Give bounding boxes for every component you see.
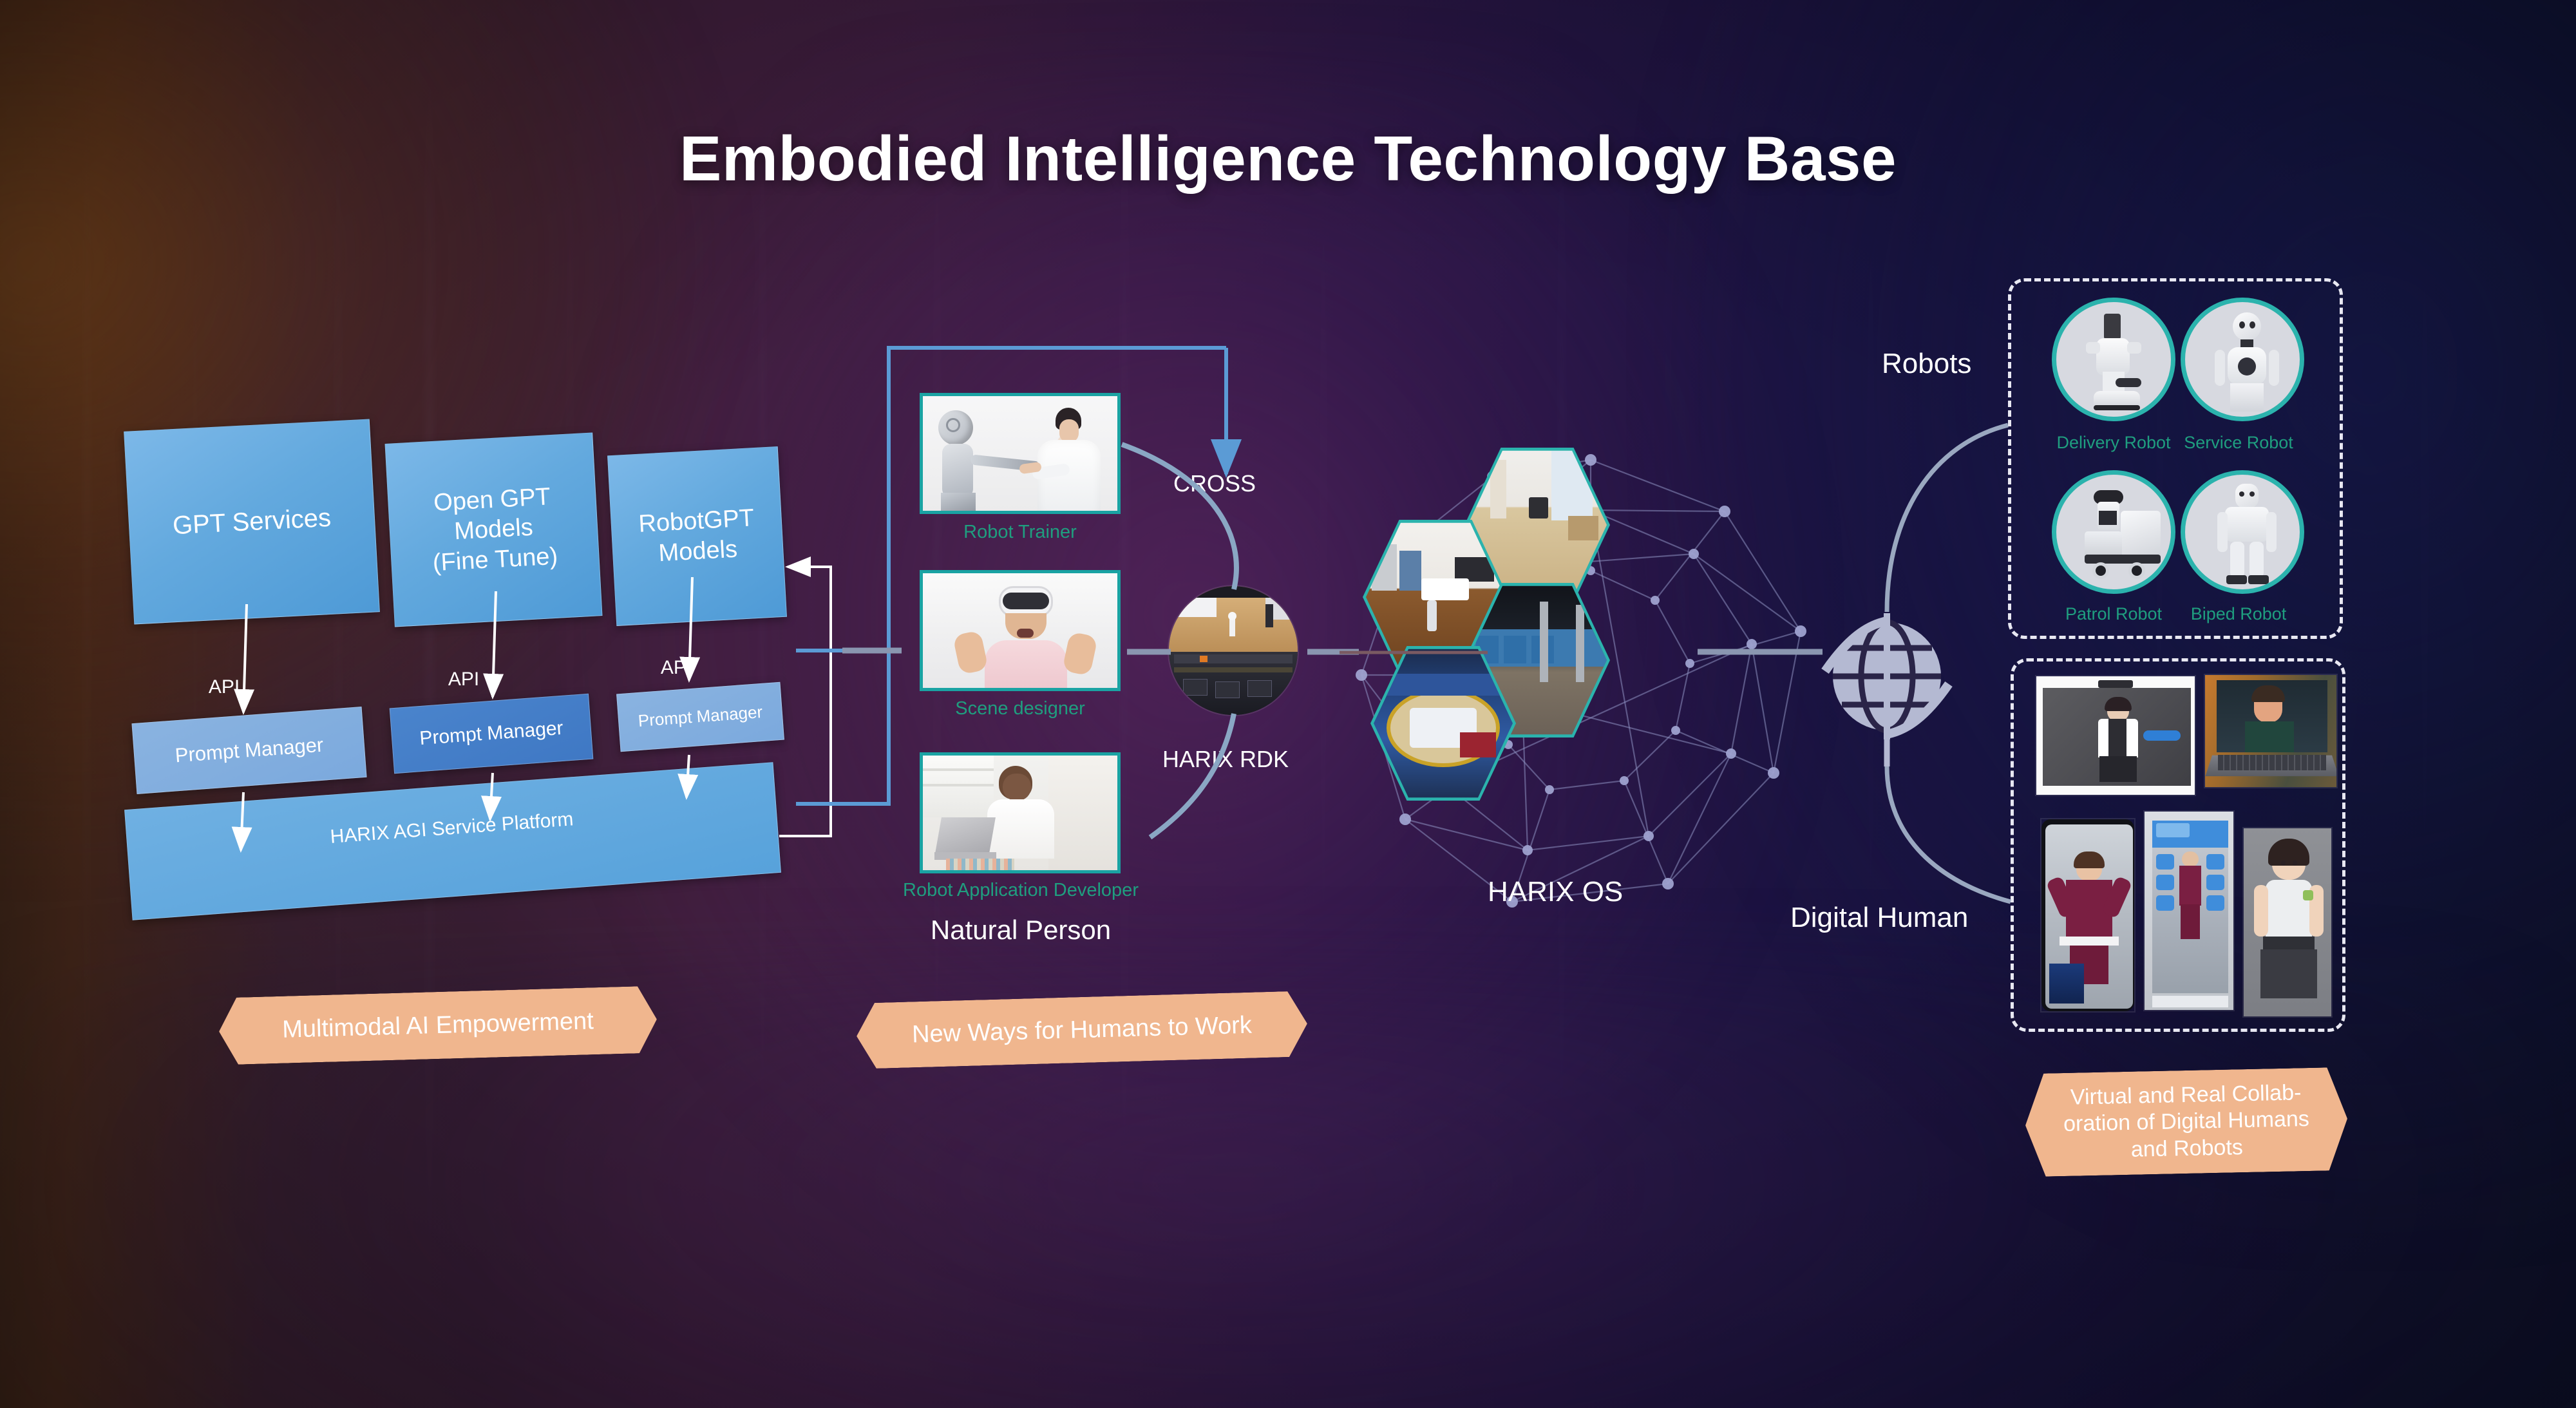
delivery-robot-thumbnail[interactable] (2052, 298, 2175, 421)
digital-human-standee[interactable] (2143, 810, 2235, 1011)
scene-designer-photo (923, 573, 1117, 688)
left-architecture-panel: GPT Services Open GPTModels(Fine Tune) R… (122, 399, 934, 902)
prompt-manager-box-3[interactable]: Prompt Manager (616, 682, 784, 752)
prompt-manager-box-1[interactable]: Prompt Manager (131, 707, 366, 794)
robotgpt-models-label: RobotGPTModels (638, 503, 756, 569)
prompt-manager-label-1: Prompt Manager (174, 733, 324, 768)
prompt-manager-box-2[interactable]: Prompt Manager (390, 694, 594, 774)
harix-rdk-thumbnail[interactable] (1169, 586, 1298, 715)
service-robot-caption: Service Robot (2138, 433, 2339, 453)
robot-application-developer-caption: Robot Application Developer (882, 880, 1159, 901)
patrol-robot-thumbnail[interactable] (2052, 470, 2175, 594)
banner-new-ways-work-label: New Ways for Humans to Work (912, 1011, 1253, 1049)
biped-robot-thumbnail[interactable] (2181, 470, 2304, 594)
digital-human-laptop[interactable] (2204, 674, 2338, 788)
gpt-services-label: GPT Services (172, 502, 332, 541)
robot-application-developer-photo (923, 756, 1117, 870)
digital-human-screen-kiosk[interactable] (2035, 675, 2196, 796)
digital-human-label: Digital Human (1790, 902, 1968, 934)
gpt-services-box[interactable]: GPT Services (124, 419, 380, 625)
api-label-3: API (638, 657, 715, 679)
scene-designer-card[interactable] (920, 570, 1121, 691)
natural-person-label: Natural Person (882, 915, 1159, 946)
biped-robot-caption: Biped Robot (2138, 604, 2339, 624)
robotgpt-models-box[interactable]: RobotGPTModels (607, 446, 787, 626)
robot-trainer-caption: Robot Trainer (920, 522, 1121, 543)
page-title: Embodied Intelligence Technology Base (0, 122, 2576, 195)
diagram-canvas: Embodied Intelligence Technology Base GP… (0, 0, 2576, 1408)
open-gpt-models-box[interactable]: Open GPTModels(Fine Tune) (385, 432, 603, 627)
harix-agi-service-platform-label: HARIX AGI Service Platform (329, 808, 574, 849)
banner-multimodal-ai: Multimodal AI Empowerment (218, 986, 658, 1065)
open-gpt-models-label: Open GPTModels(Fine Tune) (429, 482, 559, 578)
api-label-2: API (425, 669, 502, 690)
banner-virtual-real-collaboration: Virtual and Real Collab- oration of Digi… (2024, 1067, 2348, 1177)
banner-new-ways-work: New Ways for Humans to Work (856, 991, 1309, 1069)
harix-rdk-label: HARIX RDK (1162, 746, 1289, 773)
banner-multimodal-ai-label: Multimodal AI Empowerment (282, 1007, 594, 1043)
robot-trainer-photo (923, 396, 1117, 511)
digital-human-avatar[interactable] (2242, 827, 2333, 1018)
robot-trainer-card[interactable] (920, 393, 1121, 514)
cross-label: CROSS (1173, 470, 1256, 497)
harix-os-label: HARIX OS (1488, 876, 1623, 908)
service-robot-thumbnail[interactable] (2181, 298, 2304, 421)
banner-virtual-real-collaboration-label: Virtual and Real Collab- oration of Digi… (2063, 1080, 2310, 1165)
prompt-manager-label-2: Prompt Manager (419, 717, 564, 751)
scene-designer-caption: Scene designer (920, 698, 1121, 719)
prompt-manager-label-3: Prompt Manager (638, 702, 763, 732)
digital-human-phone[interactable] (2040, 818, 2136, 1013)
robots-label: Robots (1882, 348, 1971, 380)
api-label-1: API (185, 676, 263, 698)
robot-application-developer-card[interactable] (920, 752, 1121, 873)
harix-os-network-sphere (1346, 451, 1835, 928)
